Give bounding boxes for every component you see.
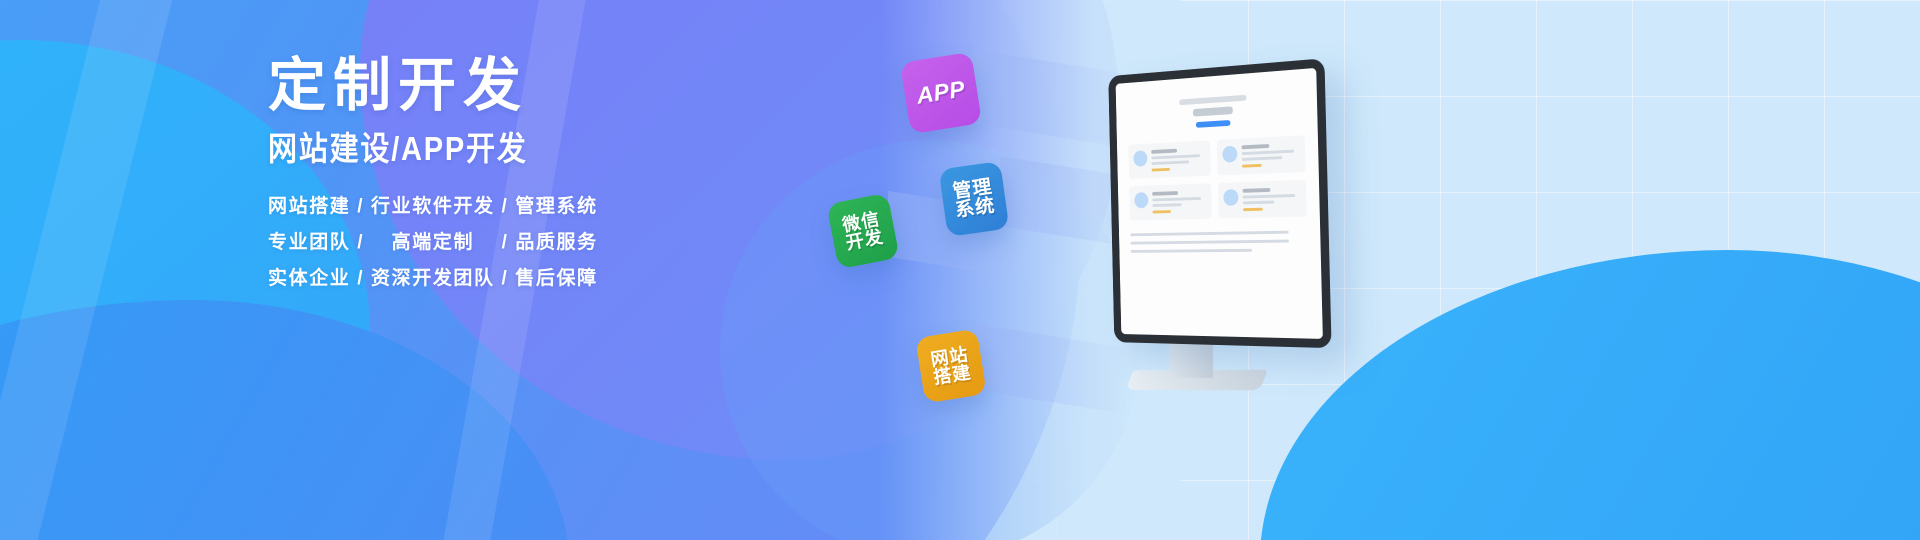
mock-feature-grid — [1128, 135, 1306, 220]
mock-feature-card — [1129, 183, 1212, 220]
mock-text-line — [1242, 144, 1270, 149]
mock-feature-icon — [1134, 192, 1148, 208]
service-card-app[interactable]: APP — [900, 52, 982, 134]
feature-line-1: 网站搭建 / 行业软件开发 / 管理系统 — [268, 197, 868, 216]
service-card-app-label: APP — [915, 78, 967, 109]
mock-text-line — [1131, 249, 1252, 253]
mock-text-line — [1151, 160, 1188, 165]
mock-feature-card — [1128, 140, 1211, 179]
mock-feature-icon — [1223, 189, 1238, 206]
mock-text-line — [1152, 203, 1181, 207]
mock-paragraph — [1130, 230, 1307, 252]
mock-page-subtitle — [1193, 106, 1233, 116]
service-card-management-line2: 系统 — [954, 196, 996, 221]
mock-accent-underline — [1153, 210, 1171, 213]
mock-text-line — [1242, 156, 1282, 161]
service-card-management[interactable]: 管理 系统 — [939, 161, 1010, 237]
monitor-illustration — [1078, 58, 1328, 348]
mock-title-underline — [1196, 120, 1231, 128]
mock-feature-card — [1218, 180, 1307, 219]
mock-text-line — [1242, 150, 1294, 155]
mock-text-line — [1130, 231, 1288, 237]
mock-text-line — [1243, 194, 1295, 199]
service-card-wechat[interactable]: 微信 开发 — [826, 193, 899, 270]
mock-accent-underline — [1243, 208, 1263, 211]
banner-copy: 定制开发 网站建设/APP开发 网站搭建 / 行业软件开发 / 管理系统 专业团… — [268, 56, 868, 305]
service-card-website-line2: 搭建 — [932, 363, 972, 387]
mock-text-line — [1130, 240, 1288, 245]
mock-text-line — [1152, 197, 1200, 201]
mock-feature-text — [1152, 190, 1206, 213]
mock-feature-card — [1217, 135, 1306, 175]
mock-text-line — [1243, 188, 1271, 193]
mock-text-line — [1151, 154, 1199, 159]
banner-subtitle: 网站建设/APP开发 — [268, 131, 796, 167]
mock-feature-icon — [1222, 146, 1237, 163]
mock-text-line — [1243, 201, 1275, 205]
mock-feature-text — [1151, 147, 1205, 171]
page-title: 定制开发 — [268, 56, 868, 117]
mock-text-line — [1151, 149, 1177, 154]
promo-banner: 定制开发 网站建设/APP开发 网站搭建 / 行业软件开发 / 管理系统 专业团… — [0, 0, 1920, 540]
monitor-screen-frame — [1108, 58, 1331, 348]
service-card-website[interactable]: 网站 搭建 — [915, 329, 987, 404]
mock-page-title — [1179, 95, 1246, 105]
mock-feature-icon — [1133, 150, 1147, 166]
feature-line-2: 专业团队 / 高端定制 / 品质服务 — [268, 233, 868, 252]
mock-feature-text — [1243, 187, 1301, 211]
mock-text-line — [1152, 191, 1178, 196]
feature-line-3: 实体企业 / 资深开发团队 / 售后保障 — [268, 269, 868, 288]
mock-accent-underline — [1242, 164, 1262, 168]
mock-accent-underline — [1152, 168, 1170, 172]
mock-feature-text — [1242, 142, 1300, 167]
monitor-screen-content — [1116, 68, 1323, 339]
